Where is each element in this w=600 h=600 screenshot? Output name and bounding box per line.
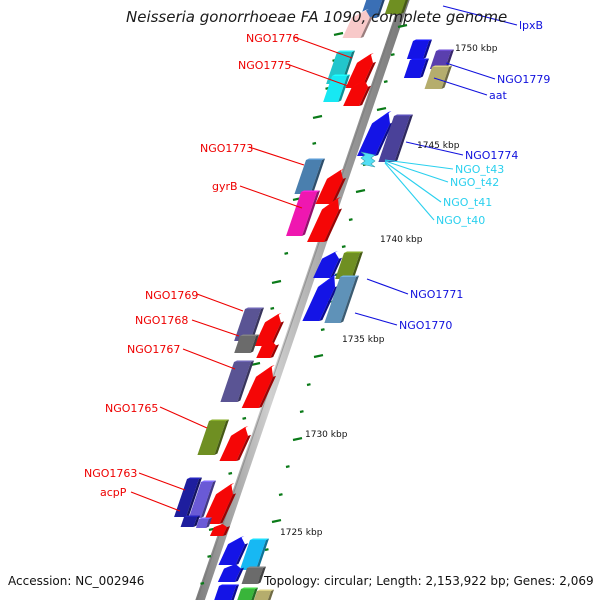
gene-label-gyrb[interactable]: gyrB <box>212 180 238 193</box>
trna-label-ngo-t40[interactable]: NGO_t40 <box>436 214 485 227</box>
kbp-tick-label: 1735 kbp <box>342 335 385 345</box>
gene-label-ngo1763[interactable]: NGO1763 <box>84 467 137 480</box>
leader-line <box>355 313 397 325</box>
ruler-tick <box>271 308 275 309</box>
gene-box-top <box>209 420 229 422</box>
feature-green-b3[interactable] <box>234 588 258 600</box>
gene-label-ngo1773[interactable]: NGO1773 <box>200 142 253 155</box>
kbp-tick-label: 1730 kbp <box>305 430 348 440</box>
ruler-tick <box>307 384 311 385</box>
feature-blue-1779a[interactable] <box>407 40 432 60</box>
gene-label-ngo1776[interactable]: NGO1776 <box>246 32 299 45</box>
gene-label-lpxb[interactable]: lpxB <box>519 19 543 32</box>
gene-box-top <box>394 115 413 117</box>
gene-box-top <box>250 539 269 541</box>
ruler-tick <box>356 190 365 192</box>
leader-line <box>240 186 302 208</box>
ruler-tick <box>272 281 281 283</box>
ruler-tick <box>265 549 269 550</box>
gene-box-top <box>340 276 359 278</box>
ruler-tick <box>334 33 343 35</box>
gene-box-top <box>306 159 325 161</box>
leader-line <box>139 473 185 490</box>
ruler-tick <box>313 143 317 144</box>
ruler-tick <box>285 253 289 254</box>
gene-label-ngo1768[interactable]: NGO1768 <box>135 314 188 327</box>
ruler-tick <box>321 329 325 330</box>
ruler-tick <box>293 438 302 440</box>
trna-label-ngo-t43[interactable]: NGO_t43 <box>455 163 504 176</box>
gene-box-top <box>245 308 264 310</box>
kbp-tick-label: 1750 kbp <box>455 44 498 54</box>
leader-line <box>294 37 352 58</box>
ruler-tick <box>208 556 212 557</box>
leader-line <box>249 147 304 165</box>
trna-label-ngo-t41[interactable]: NGO_t41 <box>443 196 492 209</box>
page-title: Neisseria gonorrhoeae FA 1090, complete … <box>126 8 507 26</box>
ruler-tick <box>286 466 290 467</box>
gene-box-top <box>344 252 363 254</box>
gene-label-ngo1771[interactable]: NGO1771 <box>410 288 463 301</box>
gene-box-top <box>234 361 254 363</box>
ruler-tick <box>313 116 322 118</box>
gene-label-ngo1774[interactable]: NGO1774 <box>465 149 518 162</box>
ruler-tick <box>384 81 388 82</box>
ruler-tick <box>349 219 353 220</box>
ruler-tick <box>201 583 205 584</box>
leader-line <box>367 279 408 294</box>
gene-label-ngo1765[interactable]: NGO1765 <box>105 402 158 415</box>
gene-box-top <box>240 335 259 337</box>
gene-label-acpp[interactable]: acpP <box>100 486 127 499</box>
kbp-tick-label: 1740 kbp <box>380 235 423 245</box>
kbp-tick-label: 1745 kbp <box>417 141 460 151</box>
ruler-tick <box>229 473 233 474</box>
ruler-tick <box>377 108 386 110</box>
leader-line <box>197 294 243 311</box>
gene-box-top <box>410 59 429 61</box>
gene-box-top <box>247 567 266 569</box>
leader-line <box>160 407 207 428</box>
ruler-tick <box>243 418 247 419</box>
leader-line <box>131 492 180 511</box>
trna-label-ngo-t42[interactable]: NGO_t42 <box>450 176 499 189</box>
ruler-tick <box>342 246 346 247</box>
gene-label-aat[interactable]: aat <box>489 89 507 102</box>
gene-box-top <box>332 75 350 77</box>
gene-label-ngo1769[interactable]: NGO1769 <box>145 289 198 302</box>
genome-map-viewer: 1750 kbp1745 kbp1740 kbp1735 kbp1730 kbp… <box>0 0 600 600</box>
feature-olive-1765[interactable] <box>197 420 229 456</box>
feature-blue-b3[interactable] <box>212 585 239 600</box>
genome-summary-text: Topology: circular; Length: 2,153,922 bp… <box>263 574 594 588</box>
feature-blue-1779b[interactable] <box>404 59 429 79</box>
leader-line <box>183 349 235 369</box>
leader-line <box>446 63 495 79</box>
ruler-tick <box>272 520 281 522</box>
trna-labels[interactable]: NGO_t43NGO_t42NGO_t41NGO_t40 <box>436 163 504 227</box>
gene-box-top <box>337 51 355 53</box>
gene-label-ngo1767[interactable]: NGO1767 <box>127 343 180 356</box>
gene-box-top <box>413 40 432 42</box>
gene-box[interactable] <box>286 192 317 236</box>
ruler-tick <box>391 54 395 55</box>
genome-map-canvas[interactable]: 1750 kbp1745 kbp1740 kbp1735 kbp1730 kbp… <box>0 0 600 600</box>
feature-khaki-aat[interactable] <box>425 66 452 90</box>
kbp-tick-label: 1725 kbp <box>280 528 323 538</box>
leader-line <box>192 320 239 336</box>
gene-label-ngo1775[interactable]: NGO1775 <box>238 59 291 72</box>
ruler-tick <box>300 411 304 412</box>
feature-blue-b2[interactable] <box>218 563 244 582</box>
gene-label-ngo1770[interactable]: NGO1770 <box>399 319 452 332</box>
feature-olive-1771[interactable] <box>335 252 363 280</box>
gene-labels-left[interactable]: NGO1776NGO1775NGO1773gyrBNGO1769NGO1768N… <box>84 32 299 499</box>
gene-box-top <box>219 585 239 587</box>
gene-box-top <box>301 191 320 193</box>
gene-box-top <box>436 50 454 52</box>
ruler-tick <box>314 355 323 357</box>
ruler-tick <box>279 494 283 495</box>
gene-box-top <box>432 66 452 68</box>
accession-text: Accession: NC_002946 <box>8 574 144 588</box>
gene-label-ngo1779[interactable]: NGO1779 <box>497 73 550 86</box>
